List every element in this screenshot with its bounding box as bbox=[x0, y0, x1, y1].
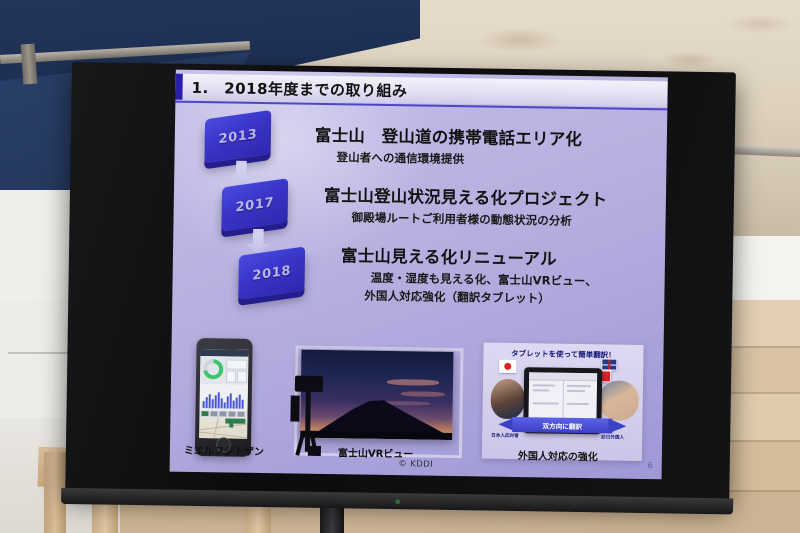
timeline-year-label: 2013 bbox=[204, 110, 271, 163]
phone-info-tile bbox=[237, 371, 247, 383]
avatar-foreign-visitors bbox=[598, 380, 639, 421]
timeline-graphic: 2013 2017 2018 bbox=[172, 104, 316, 336]
section-subtext: 外国人対応強化（翻訳タブレット） bbox=[364, 288, 597, 308]
section-subtext: 温度・湿度も見える化、富士山VRビュー、 bbox=[371, 270, 598, 290]
translation-left-label: 日本人応対者 bbox=[491, 433, 519, 439]
phone-bar-chart bbox=[200, 384, 248, 411]
translation-panel: タブレットを使って簡単翻訳！ bbox=[482, 343, 644, 461]
section-2018: 富士山見える化リニューアル 温度・湿度も見える化、富士山VRビュー、 外国人対応… bbox=[340, 242, 597, 307]
timeline-year-label: 2018 bbox=[238, 246, 305, 299]
timeline-block-2017: 2017 bbox=[221, 182, 288, 227]
television-display: 1. 2018年度までの取り組み 2013 2017 2018 富士山 登山道の… bbox=[65, 62, 736, 502]
title-accent-bar bbox=[175, 74, 182, 100]
tv-power-led bbox=[395, 499, 400, 504]
canopy-post bbox=[21, 44, 38, 85]
map-label bbox=[225, 418, 245, 423]
bidirectional-arrow: 双方向に翻訳 bbox=[498, 417, 626, 434]
camera-tripod-silhouette bbox=[288, 375, 333, 462]
section-heading: 富士山登山状況見える化プロジェクト bbox=[324, 182, 608, 210]
phone-info-tile bbox=[226, 359, 247, 369]
section-2017: 富士山登山状況見える化プロジェクト 御殿場ルートご利用者様の動態状況の分析 bbox=[323, 182, 607, 229]
translation-right-label: 訪日外国人 bbox=[601, 434, 624, 440]
section-heading: 富士山 登山道の携帯電話エリア化 bbox=[315, 122, 583, 150]
section-heading: 富士山見える化リニューアル bbox=[341, 242, 598, 270]
phone-screen bbox=[199, 349, 248, 439]
page-number: 6 bbox=[648, 461, 653, 470]
timeline-block-2013: 2013 bbox=[205, 114, 272, 159]
phone-info-tile bbox=[226, 370, 236, 382]
timeline-block-2018: 2018 bbox=[238, 251, 305, 296]
smartphone-mockup bbox=[195, 338, 253, 457]
phone-dashboard bbox=[200, 356, 248, 385]
japan-flag-icon bbox=[499, 360, 516, 373]
section-2013: 富士山 登山道の携帯電話エリア化 登山者への通信環境提供 bbox=[314, 122, 582, 169]
avatar-japanese-staff bbox=[490, 379, 525, 420]
gauge-icon bbox=[203, 359, 223, 379]
timeline-year-label: 2017 bbox=[221, 178, 288, 231]
page-title: 1. 2018年度までの取り組み bbox=[191, 76, 407, 100]
phone-map bbox=[199, 417, 247, 439]
arrow-label: 双方向に翻訳 bbox=[498, 417, 626, 434]
presentation-slide: 1. 2018年度までの取り組み 2013 2017 2018 富士山 登山道の… bbox=[170, 70, 668, 480]
uk-flag-icon bbox=[601, 358, 617, 370]
